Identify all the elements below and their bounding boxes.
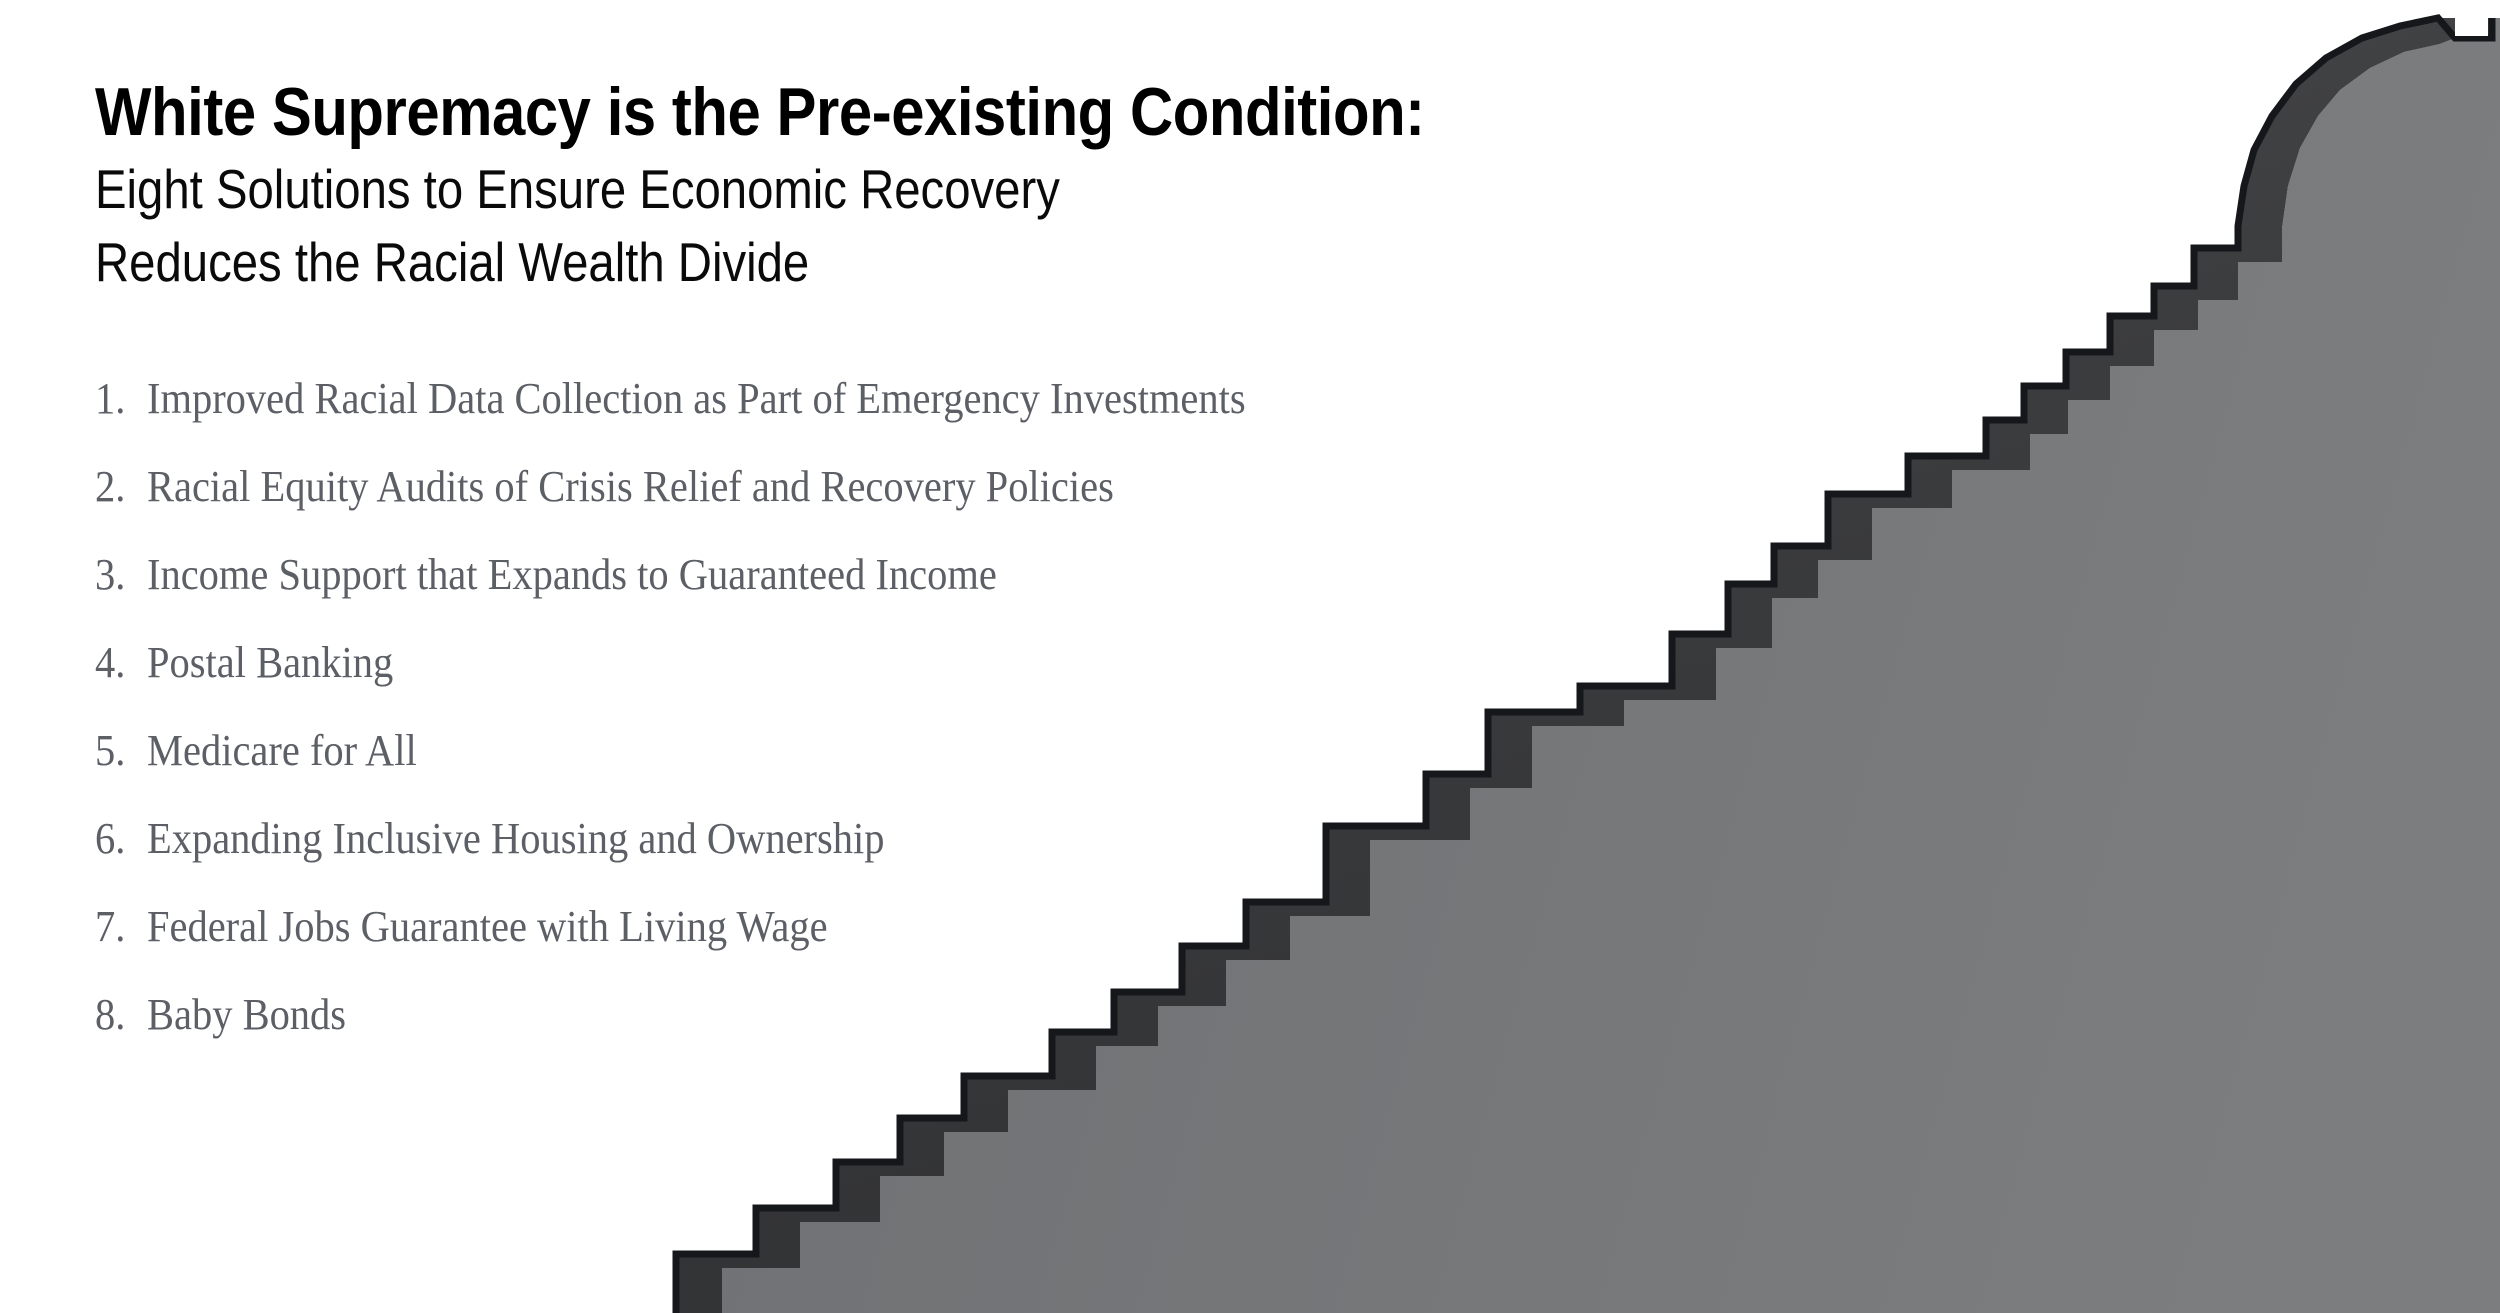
list-item-number: 4. bbox=[95, 641, 143, 685]
list-item-label: Expanding Inclusive Housing and Ownershi… bbox=[147, 817, 885, 861]
list-item-number: 3. bbox=[95, 553, 143, 597]
list-item-number: 2. bbox=[95, 465, 143, 509]
subtitle-line-1: Eight Solutions to Ensure Economic Recov… bbox=[95, 153, 1342, 226]
list-item-label: Racial Equity Audits of Crisis Relief an… bbox=[147, 465, 1114, 509]
list-item: 8. Baby Bonds bbox=[95, 993, 1545, 1037]
list-item-number: 1. bbox=[95, 377, 143, 421]
list-item-number: 7. bbox=[95, 905, 143, 949]
list-item-label: Income Support that Expands to Guarantee… bbox=[147, 553, 997, 597]
list-item: 4. Postal Banking bbox=[95, 641, 1545, 685]
slide-canvas: White Supremacy is the Pre-existing Cond… bbox=[0, 0, 2500, 1313]
list-item: 1. Improved Racial Data Collection as Pa… bbox=[95, 377, 1545, 421]
list-item-number: 5. bbox=[95, 729, 143, 773]
subtitle-line-2: Reduces the Racial Wealth Divide bbox=[95, 226, 1342, 299]
list-item-label: Baby Bonds bbox=[147, 993, 346, 1037]
list-item-label: Medicare for All bbox=[147, 729, 417, 773]
list-item: 3. Income Support that Expands to Guaran… bbox=[95, 553, 1545, 597]
list-item: 7. Federal Jobs Guarantee with Living Wa… bbox=[95, 905, 1545, 949]
list-item-number: 8. bbox=[95, 993, 143, 1037]
page-subtitle: Eight Solutions to Ensure Economic Recov… bbox=[95, 153, 1545, 298]
list-item-number: 6. bbox=[95, 817, 143, 861]
list-item: 5. Medicare for All bbox=[95, 729, 1545, 773]
page-title: White Supremacy is the Pre-existing Cond… bbox=[95, 78, 1371, 147]
list-item-label: Postal Banking bbox=[147, 641, 393, 685]
list-item-label: Federal Jobs Guarantee with Living Wage bbox=[147, 905, 828, 949]
list-item-label: Improved Racial Data Collection as Part … bbox=[147, 377, 1246, 421]
staircase-top-notch bbox=[2455, 0, 2488, 36]
list-item: 2. Racial Equity Audits of Crisis Relief… bbox=[95, 465, 1545, 509]
solutions-list: 1. Improved Racial Data Collection as Pa… bbox=[95, 377, 1545, 1037]
slide-text-block: White Supremacy is the Pre-existing Cond… bbox=[95, 78, 1545, 1081]
list-item: 6. Expanding Inclusive Housing and Owner… bbox=[95, 817, 1545, 861]
